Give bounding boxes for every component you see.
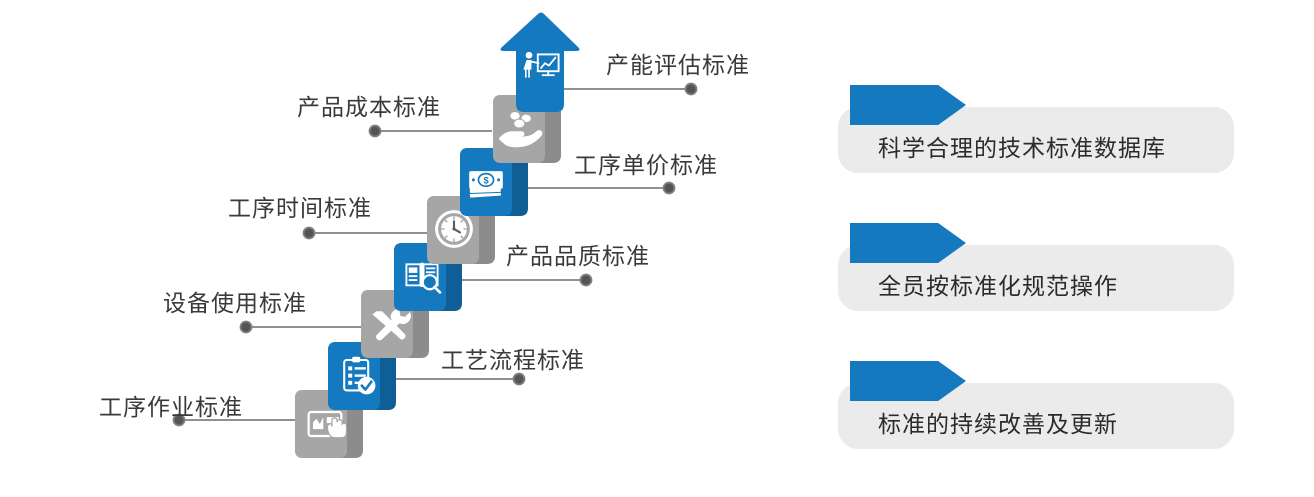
phase-card-text: 全员按标准化规范操作 — [878, 275, 1118, 298]
connector-dot-step-4 — [581, 275, 592, 286]
phase-card-text: 标准的持续改善及更新 — [878, 413, 1118, 436]
connector-dot-step-7 — [370, 126, 381, 137]
step-8-label: 产能评估标准 — [606, 54, 750, 77]
connector-dot-step-6 — [664, 183, 675, 194]
infographic-stage: $ — [0, 0, 1314, 497]
staircase-diagram: $ — [0, 0, 810, 497]
banknotes-icon — [469, 171, 503, 198]
connector-dot-step-2 — [514, 374, 525, 385]
step-7-label: 产品成本标准 — [297, 96, 441, 119]
step-6-label: 工序单价标准 — [574, 154, 718, 177]
connector-dot-step-3 — [241, 322, 252, 333]
connector-dot-step-5 — [304, 228, 315, 239]
connector-dot-step-8 — [686, 84, 697, 95]
phase-cards-panel: 建立 科学合理的技术标准数据库 执行 全员按标准化规范操作 优化 标准的持续改善… — [826, 0, 1246, 497]
step-4-label: 产品品质标准 — [506, 245, 650, 268]
step-2-label: 工艺流程标准 — [441, 349, 585, 372]
step-5-label: 工序时间标准 — [228, 197, 372, 220]
step-1-label: 工序作业标准 — [99, 396, 243, 419]
phase-card-text: 科学合理的技术标准数据库 — [878, 137, 1166, 160]
step-3-label: 设备使用标准 — [163, 292, 307, 315]
